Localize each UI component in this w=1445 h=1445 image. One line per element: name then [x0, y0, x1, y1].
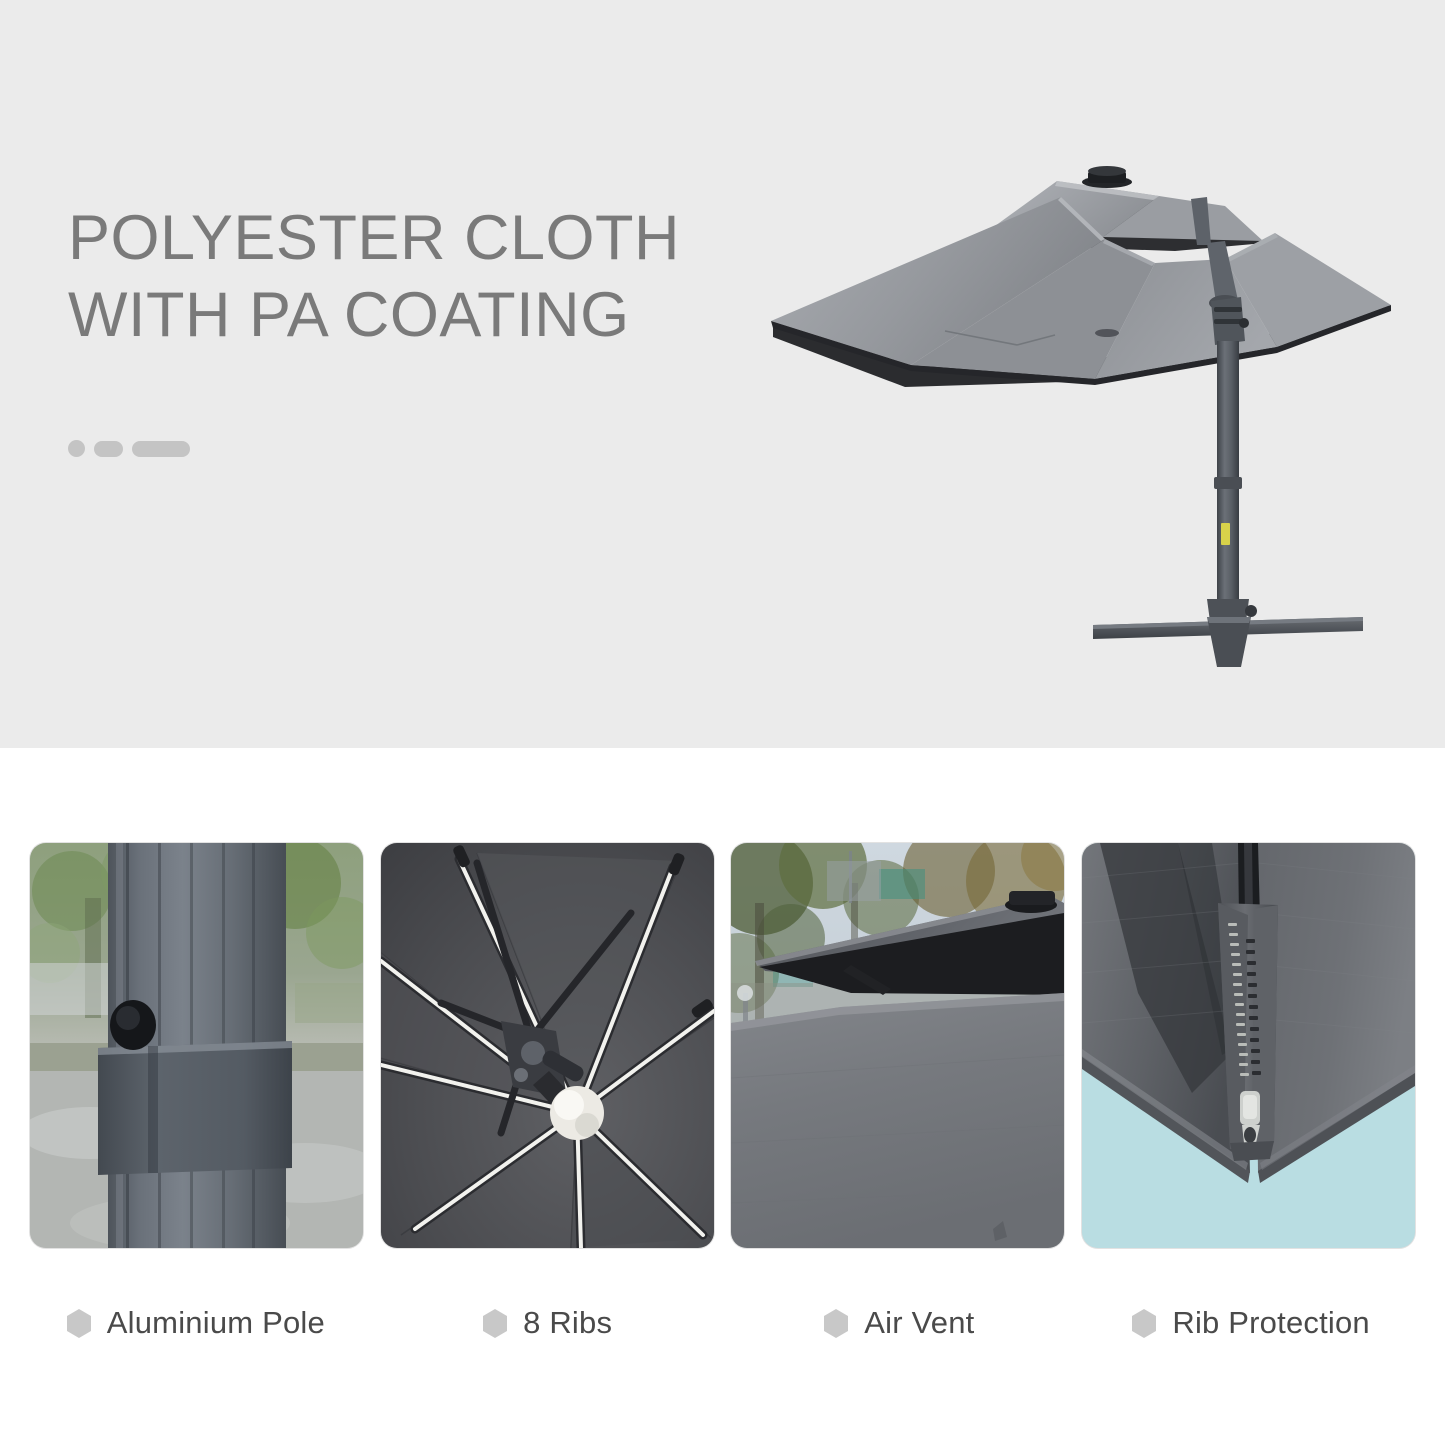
decor-dot-icon — [68, 440, 85, 457]
feature-thumbnail-air-vent[interactable] — [731, 843, 1064, 1248]
feature-label-rib-protection: Rib Protection — [1085, 1283, 1415, 1363]
feature-image-strip — [0, 843, 1445, 1248]
product-image-umbrella — [755, 155, 1445, 675]
hexagon-icon — [481, 1308, 509, 1339]
page-title: POLYESTER CLOTH WITH PA COATING — [68, 200, 680, 354]
decor-pill-small-icon — [94, 441, 123, 457]
hexagon-icon — [822, 1308, 850, 1339]
feature-thumbnail-aluminium-pole[interactable] — [30, 843, 363, 1248]
feature-label-text: 8 Ribs — [523, 1305, 612, 1341]
decorative-marker-row — [68, 440, 190, 457]
feature-label-text: Rib Protection — [1172, 1305, 1370, 1341]
decor-pill-large-icon — [132, 441, 190, 457]
hexagon-icon — [65, 1308, 93, 1339]
feature-label-text: Aluminium Pole — [107, 1305, 325, 1341]
feature-thumbnail-rib-protection[interactable] — [1082, 843, 1415, 1248]
feature-label-row: Aluminium Pole 8 Ribs Air Vent Rib Prote… — [0, 1283, 1445, 1363]
hero-section: POLYESTER CLOTH WITH PA COATING — [0, 0, 1445, 748]
feature-label-air-vent: Air Vent — [734, 1283, 1064, 1363]
feature-label-eight-ribs: 8 Ribs — [382, 1283, 712, 1363]
feature-label-text: Air Vent — [864, 1305, 974, 1341]
feature-thumbnail-eight-ribs[interactable] — [381, 843, 714, 1248]
hexagon-icon — [1130, 1308, 1158, 1339]
feature-label-aluminium-pole: Aluminium Pole — [30, 1283, 360, 1363]
